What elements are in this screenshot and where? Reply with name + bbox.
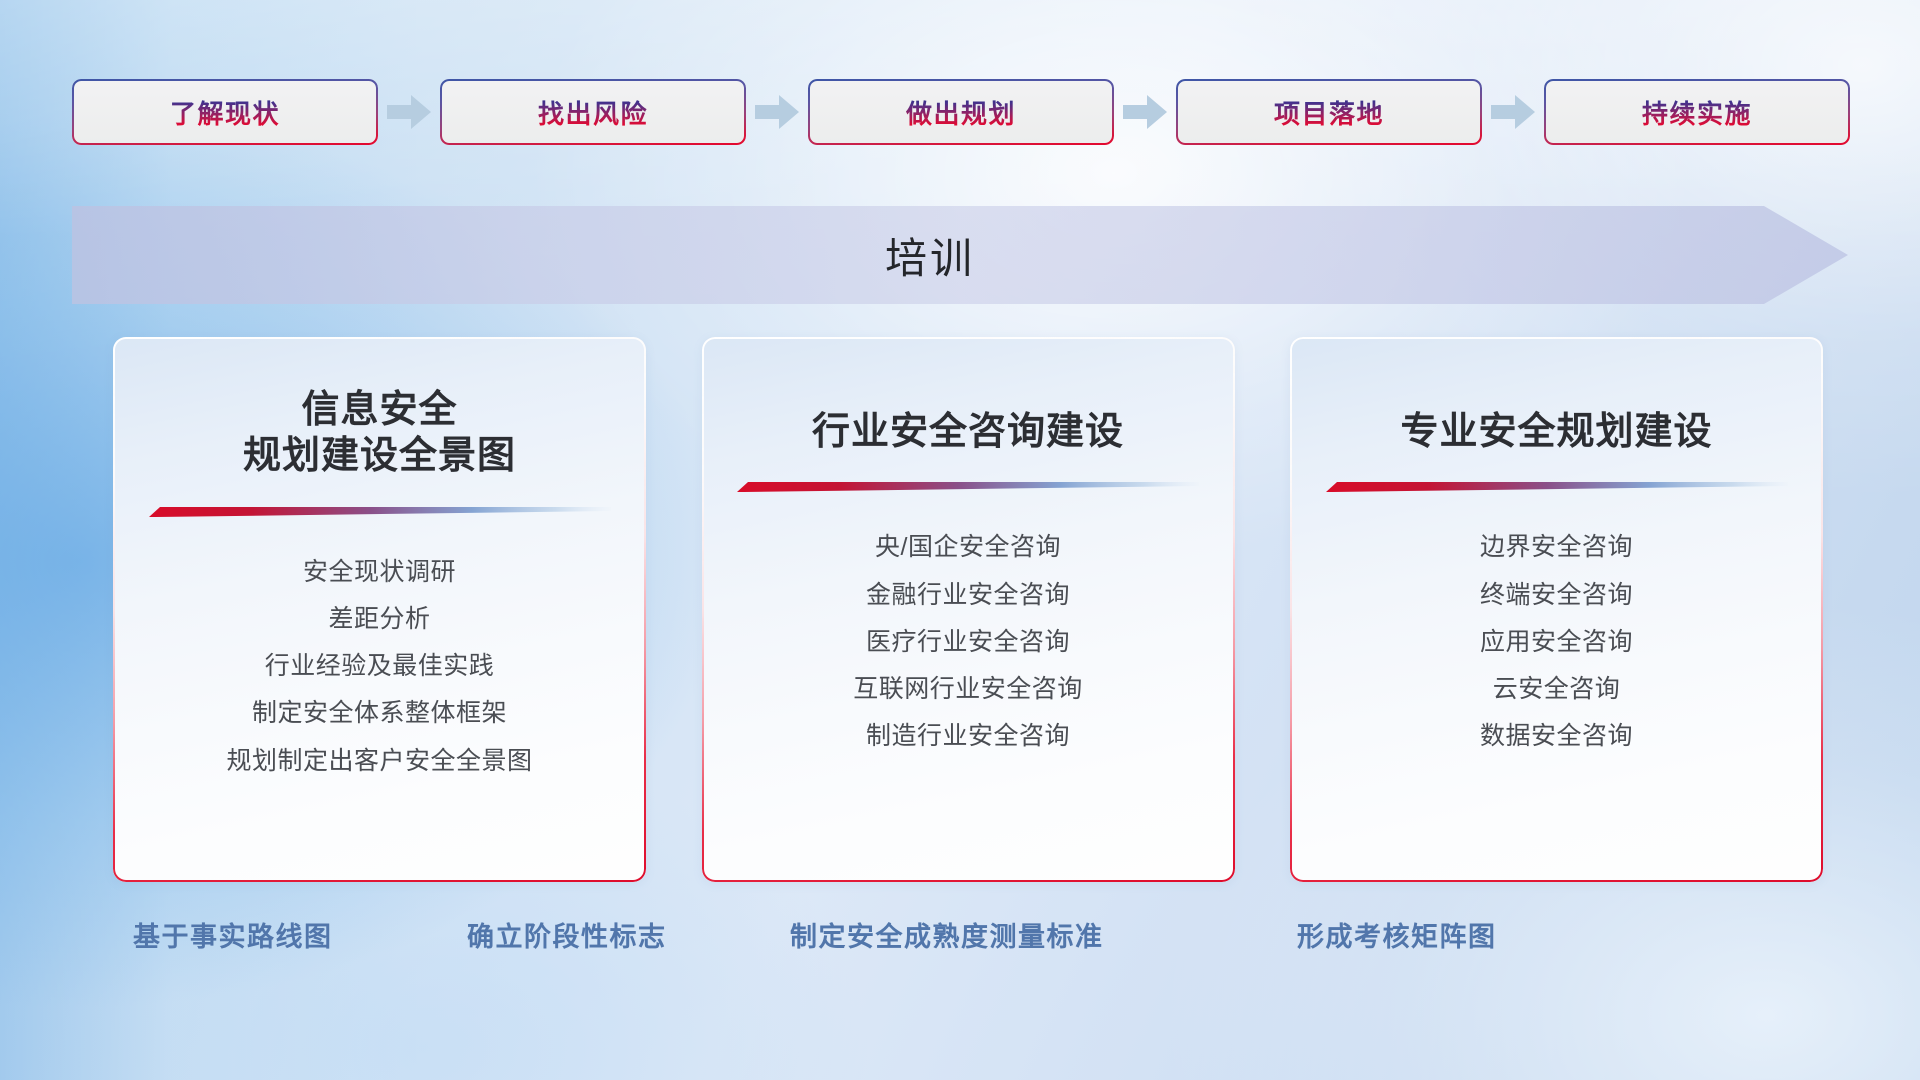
card-divider (1326, 481, 1788, 493)
list-item: 医疗行业安全咨询 (866, 624, 1070, 660)
list-item: 行业经验及最佳实践 (265, 648, 495, 684)
caption-3: 制定安全成熟度测量标准 (790, 915, 1104, 954)
step-box-3[interactable]: 做出规划 (808, 79, 1114, 145)
list-item: 互联网行业安全咨询 (853, 671, 1083, 707)
block-arrow-right-icon (378, 95, 440, 129)
card-row: 信息安全 规划建设全景图 (113, 337, 1823, 882)
block-arrow-right-icon (1482, 95, 1544, 129)
list-item: 终端安全咨询 (1480, 577, 1633, 613)
list-item: 金融行业安全咨询 (866, 577, 1070, 613)
list-item: 制定安全体系整体框架 (252, 695, 507, 731)
process-step-row: 了解现状 找出风险 做出规划 项目落地 持续实施 (72, 79, 1848, 145)
step-box-5[interactable]: 持续实施 (1544, 79, 1850, 145)
caption-4: 形成考核矩阵图 (1297, 915, 1497, 954)
block-arrow-right-icon (1114, 95, 1176, 129)
card-title: 专业安全规划建设 (1324, 409, 1789, 455)
caption-2: 确立阶段性标志 (467, 915, 667, 954)
step-label-3: 做出规划 (906, 94, 1016, 131)
card-list: 边界安全咨询 终端安全咨询 应用安全咨询 云安全咨询 数据安全咨询 (1324, 529, 1789, 754)
caption-row: 基于事实路线图 确立阶段性标志 制定安全成熟度测量标准 形成考核矩阵图 (0, 915, 1920, 961)
list-item: 制造行业安全咨询 (866, 718, 1070, 754)
card-industry-security-consulting[interactable]: 行业安全咨询建设 (702, 337, 1235, 882)
caption-1: 基于事实路线图 (133, 915, 333, 954)
list-item: 差距分析 (328, 601, 430, 637)
card-information-security-blueprint[interactable]: 信息安全 规划建设全景图 (113, 337, 646, 882)
card-list: 央/国企安全咨询 金融行业安全咨询 医疗行业安全咨询 互联网行业安全咨询 制造行… (736, 529, 1201, 754)
step-label-1: 了解现状 (170, 94, 280, 131)
card-title: 行业安全咨询建设 (736, 409, 1201, 455)
step-label-2: 找出风险 (538, 94, 648, 131)
step-label-5: 持续实施 (1642, 94, 1752, 131)
step-box-4[interactable]: 项目落地 (1176, 79, 1482, 145)
step-label-4: 项目落地 (1274, 94, 1384, 131)
list-item: 云安全咨询 (1493, 671, 1621, 707)
list-item: 规划制定出客户安全全景图 (226, 743, 532, 779)
card-divider (737, 481, 1199, 493)
list-item: 边界安全咨询 (1480, 529, 1633, 565)
step-box-1[interactable]: 了解现状 (72, 79, 378, 145)
card-professional-security-planning[interactable]: 专业安全规划建设 (1290, 337, 1823, 882)
block-arrow-right-icon (746, 95, 808, 129)
card-divider (149, 506, 611, 518)
card-title: 信息安全 规划建设全景图 (147, 387, 612, 480)
banner-title: 培训 (72, 206, 1848, 304)
card-list: 安全现状调研 差距分析 行业经验及最佳实践 制定安全体系整体框架 规划制定出客户… (147, 554, 612, 779)
training-banner: 培训 (72, 206, 1848, 304)
step-box-2[interactable]: 找出风险 (440, 79, 746, 145)
list-item: 安全现状调研 (303, 554, 456, 590)
list-item: 数据安全咨询 (1480, 718, 1633, 754)
list-item: 央/国企安全咨询 (875, 529, 1061, 565)
list-item: 应用安全咨询 (1480, 624, 1633, 660)
